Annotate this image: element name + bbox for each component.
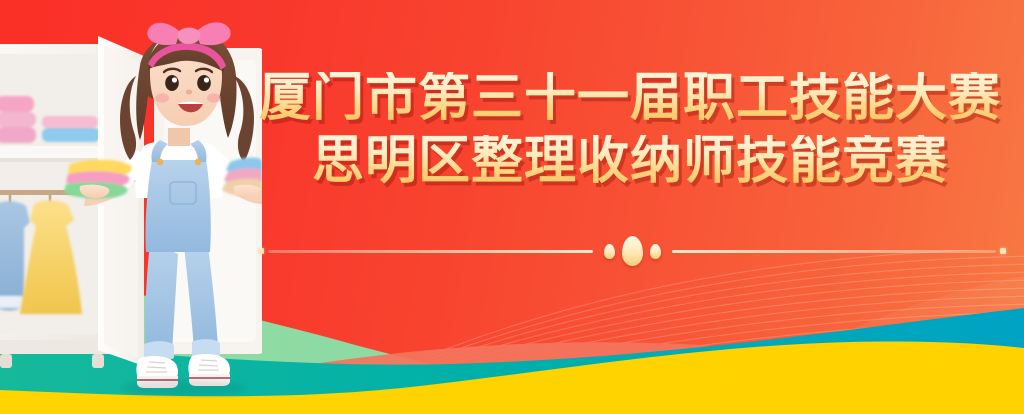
- divider-gem-small-right: [650, 244, 661, 259]
- event-banner: 厦门市第三十一届职工技能大赛 思明区整理收纳师技能竞赛 横幅:白色衣柜前一个卡通…: [0, 0, 1024, 414]
- ornament-divider: [258, 234, 1006, 268]
- title-line-2: 思明区整理收纳师技能竞赛: [256, 135, 1004, 187]
- divider-dot-left: [258, 248, 264, 254]
- banner-alt-text: 横幅:白色衣柜前一个卡通女孩手拿叠好的衣物: [0, 0, 1, 1]
- title-line-1: 厦门市第三十一届职工技能大赛: [256, 72, 1004, 124]
- divider-dot-right: [1000, 248, 1006, 254]
- divider-line-right: [672, 250, 997, 253]
- divider-line-left: [268, 250, 593, 253]
- divider-gem-large-center: [622, 236, 643, 266]
- title-block: 厦门市第三十一届职工技能大赛 思明区整理收纳师技能竞赛: [256, 72, 1004, 187]
- pink-bow: [147, 22, 230, 45]
- divider-gems: [604, 236, 661, 266]
- divider-gem-small-left: [604, 244, 615, 259]
- illustration-girl-organizing-clothes: [0, 14, 262, 414]
